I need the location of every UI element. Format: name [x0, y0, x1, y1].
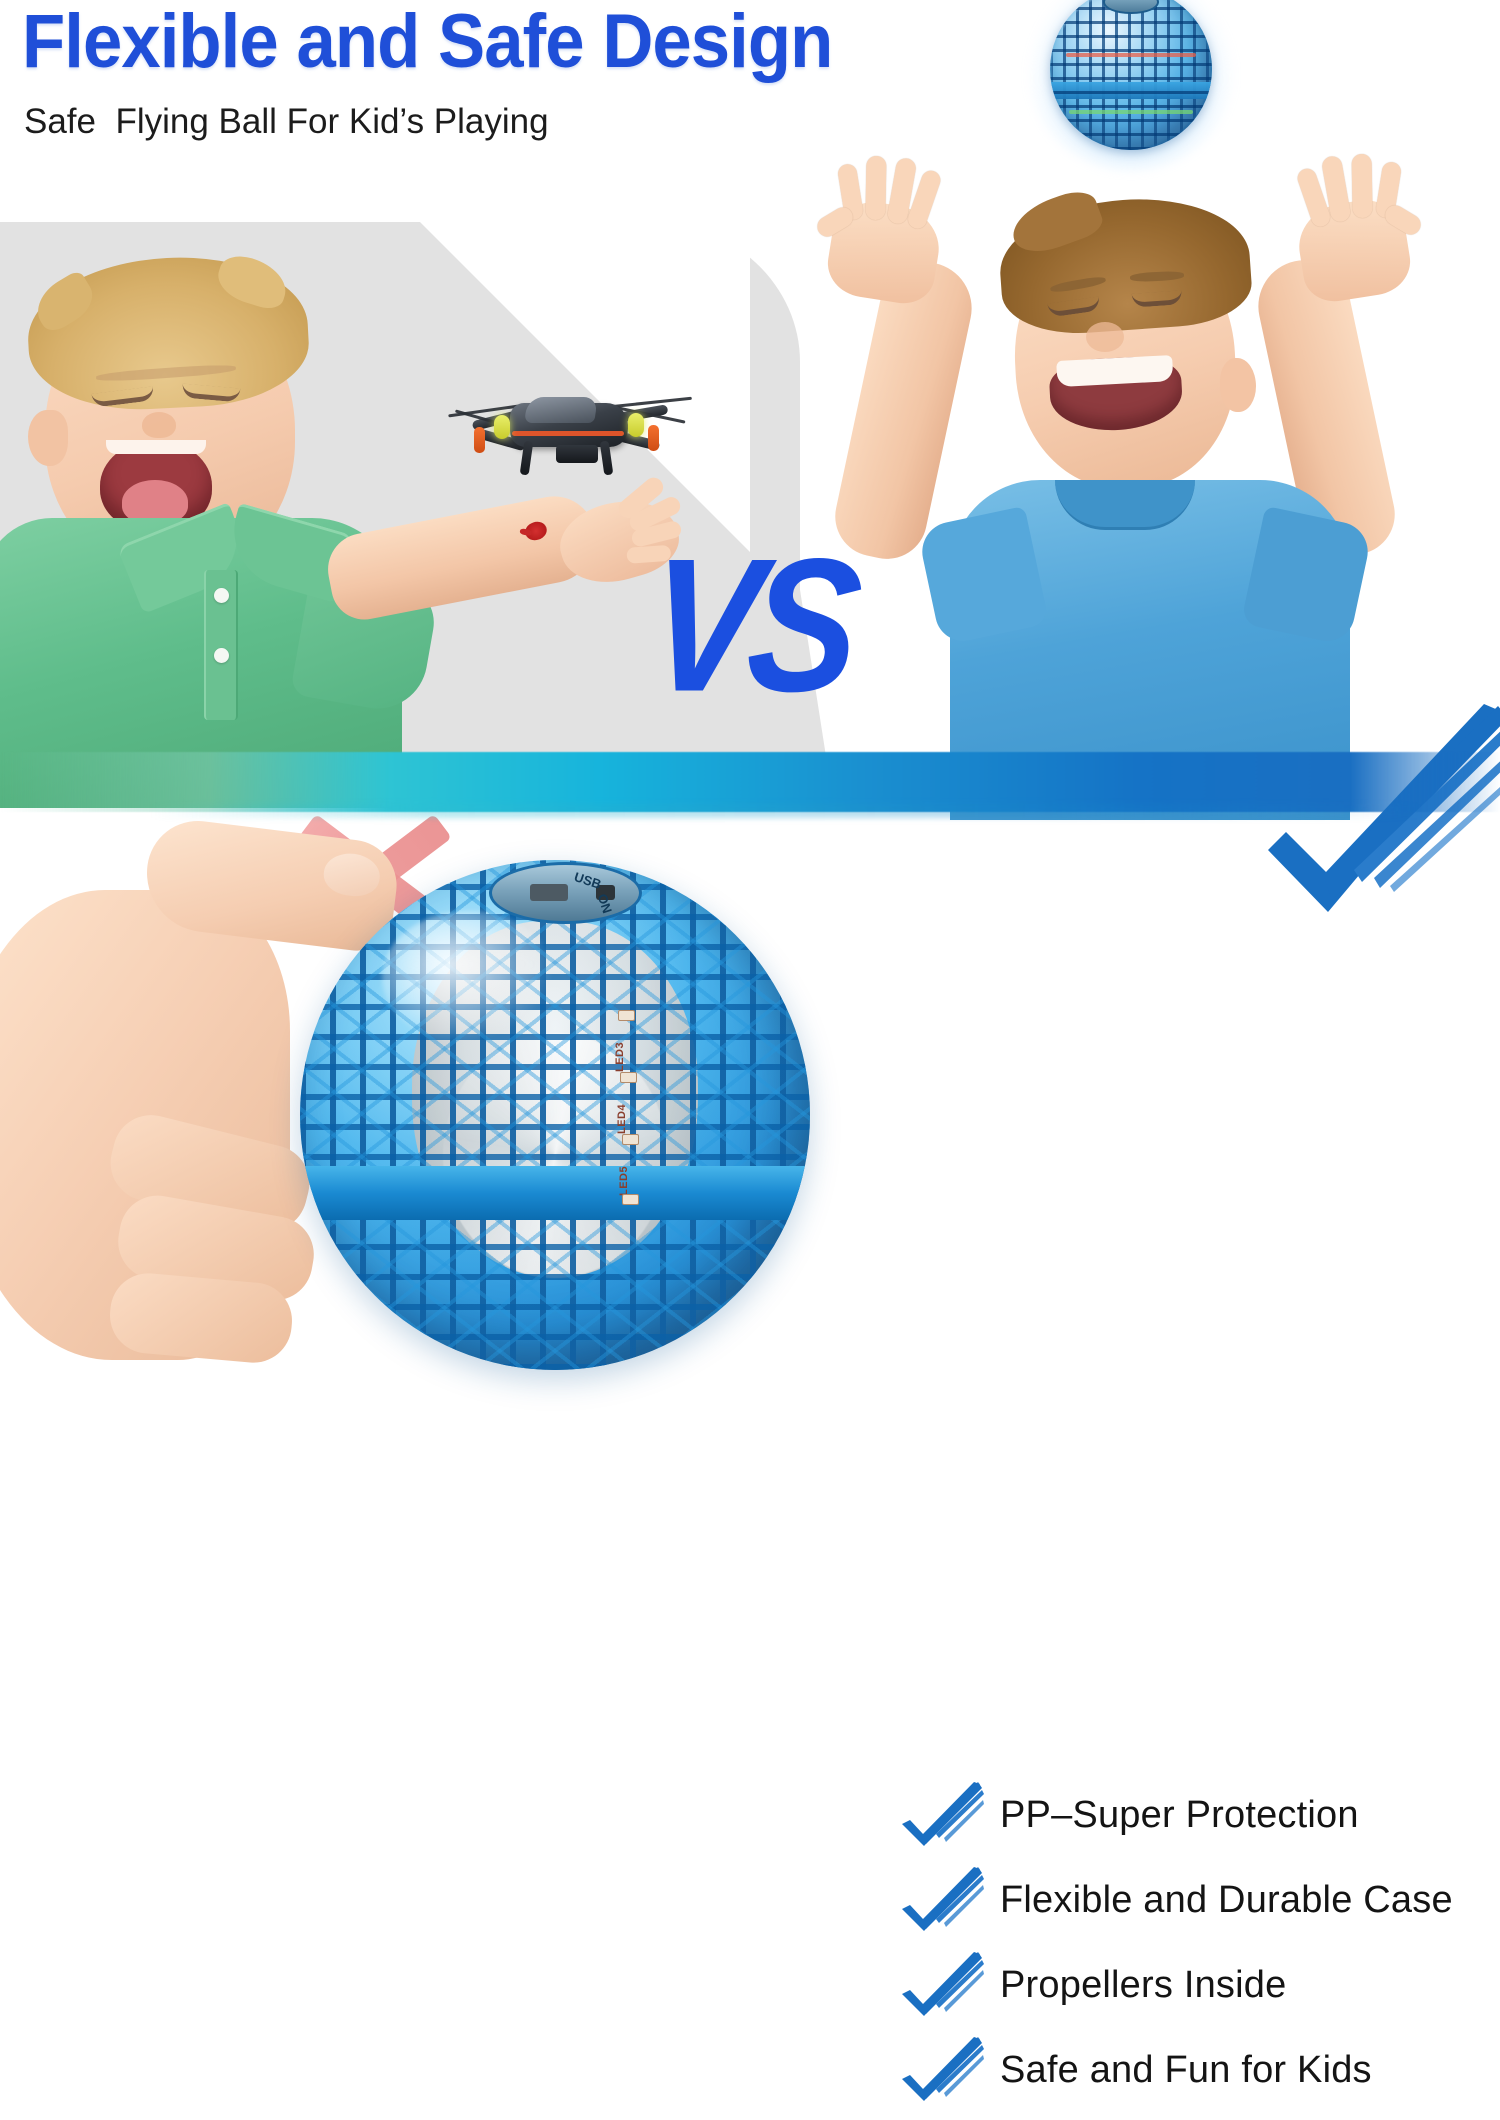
- comparison-section: VS: [0, 180, 1500, 820]
- led-label: LED4: [616, 1104, 628, 1134]
- ball-top-cap: USB ON: [489, 862, 642, 924]
- feature-label: Propellers Inside: [1000, 1964, 1286, 2007]
- child-teeth: [106, 440, 206, 454]
- finger: [107, 1270, 295, 1366]
- page-title: Flexible and Safe Design: [22, 0, 832, 85]
- check-mark-icon: [898, 1782, 984, 1856]
- polo-button-top: [214, 588, 229, 603]
- drone-accent-stripe: [512, 431, 624, 436]
- list-item: PP–Super Protection: [890, 1780, 1490, 1860]
- ball-equator-band: [300, 1166, 810, 1220]
- child-hair: [996, 191, 1254, 338]
- check-mark-icon: [898, 1952, 984, 2026]
- tshirt-sleeve-right: [1241, 506, 1374, 646]
- usb-port: [530, 884, 568, 901]
- header: Flexible and Safe Design Safe Flying Bal…: [0, 0, 1500, 180]
- feature-label: PP–Super Protection: [1000, 1794, 1359, 1837]
- feature-label: Safe and Fun for Kids: [1000, 2049, 1372, 2092]
- list-item: Flexible and Durable Case: [890, 1865, 1490, 1945]
- polo-button-bottom: [214, 648, 229, 663]
- ball-shell: LED3 LED4 LED5: [300, 860, 810, 1370]
- list-item: Safe and Fun for Kids: [890, 2035, 1490, 2115]
- check-mark-icon: [898, 2037, 984, 2111]
- crying-child-photo: [0, 240, 520, 800]
- drone-canopy: [524, 397, 598, 423]
- thumb: [1381, 202, 1424, 239]
- drone-battery: [556, 445, 598, 463]
- drone-orange-marker: [474, 427, 485, 453]
- product-detail-section: LED3 LED4 LED5 USB ON PP–Su: [0, 820, 1500, 1396]
- list-item: Propellers Inside: [890, 1950, 1490, 2030]
- led-chip: [618, 1010, 635, 1021]
- page-subtitle: Safe Flying Ball For Kid’s Playing: [24, 102, 549, 142]
- ball-led-red: [1066, 53, 1196, 57]
- check-mark-svg: [898, 1952, 984, 2026]
- child-ear: [28, 410, 68, 466]
- quadcopter-drone-icon: [452, 375, 682, 480]
- child-teeth: [1056, 355, 1173, 387]
- finger: [1352, 154, 1373, 218]
- child-hand-right: [1293, 194, 1415, 306]
- check-mark-svg: [898, 2037, 984, 2111]
- brush-divider-band: [0, 752, 1500, 812]
- ball-cage-diagonal: [300, 860, 810, 1370]
- flying-ball-drone-icon: [1050, 0, 1212, 150]
- ball-highlight: [382, 911, 555, 1044]
- drone-led-light: [494, 415, 510, 439]
- child-ear: [1220, 358, 1256, 412]
- drone-led-light: [628, 413, 644, 437]
- ball-equator-band: [1050, 82, 1212, 99]
- drone-orange-marker: [648, 425, 659, 451]
- child-hand-left: [823, 196, 945, 308]
- child-nose: [1086, 322, 1124, 352]
- finger: [865, 156, 886, 220]
- led-chip: [622, 1194, 639, 1205]
- check-mark-svg: [898, 1867, 984, 1941]
- child-nose: [142, 412, 176, 438]
- led-chip: [622, 1134, 639, 1145]
- led-label: LED3: [614, 1042, 626, 1072]
- usb-label: USB: [572, 869, 603, 892]
- feature-list: PP–Super Protection Flexible and Durable…: [890, 1780, 1490, 2120]
- ball-led-green: [1069, 110, 1192, 114]
- led-label: LED5: [618, 1166, 630, 1196]
- led-chip: [620, 1072, 637, 1083]
- flying-ball-drone-icon: LED3 LED4 LED5 USB ON: [300, 860, 810, 1370]
- check-mark-svg: [898, 1782, 984, 1856]
- check-mark-icon: [898, 1867, 984, 1941]
- feature-label: Flexible and Durable Case: [1000, 1879, 1453, 1922]
